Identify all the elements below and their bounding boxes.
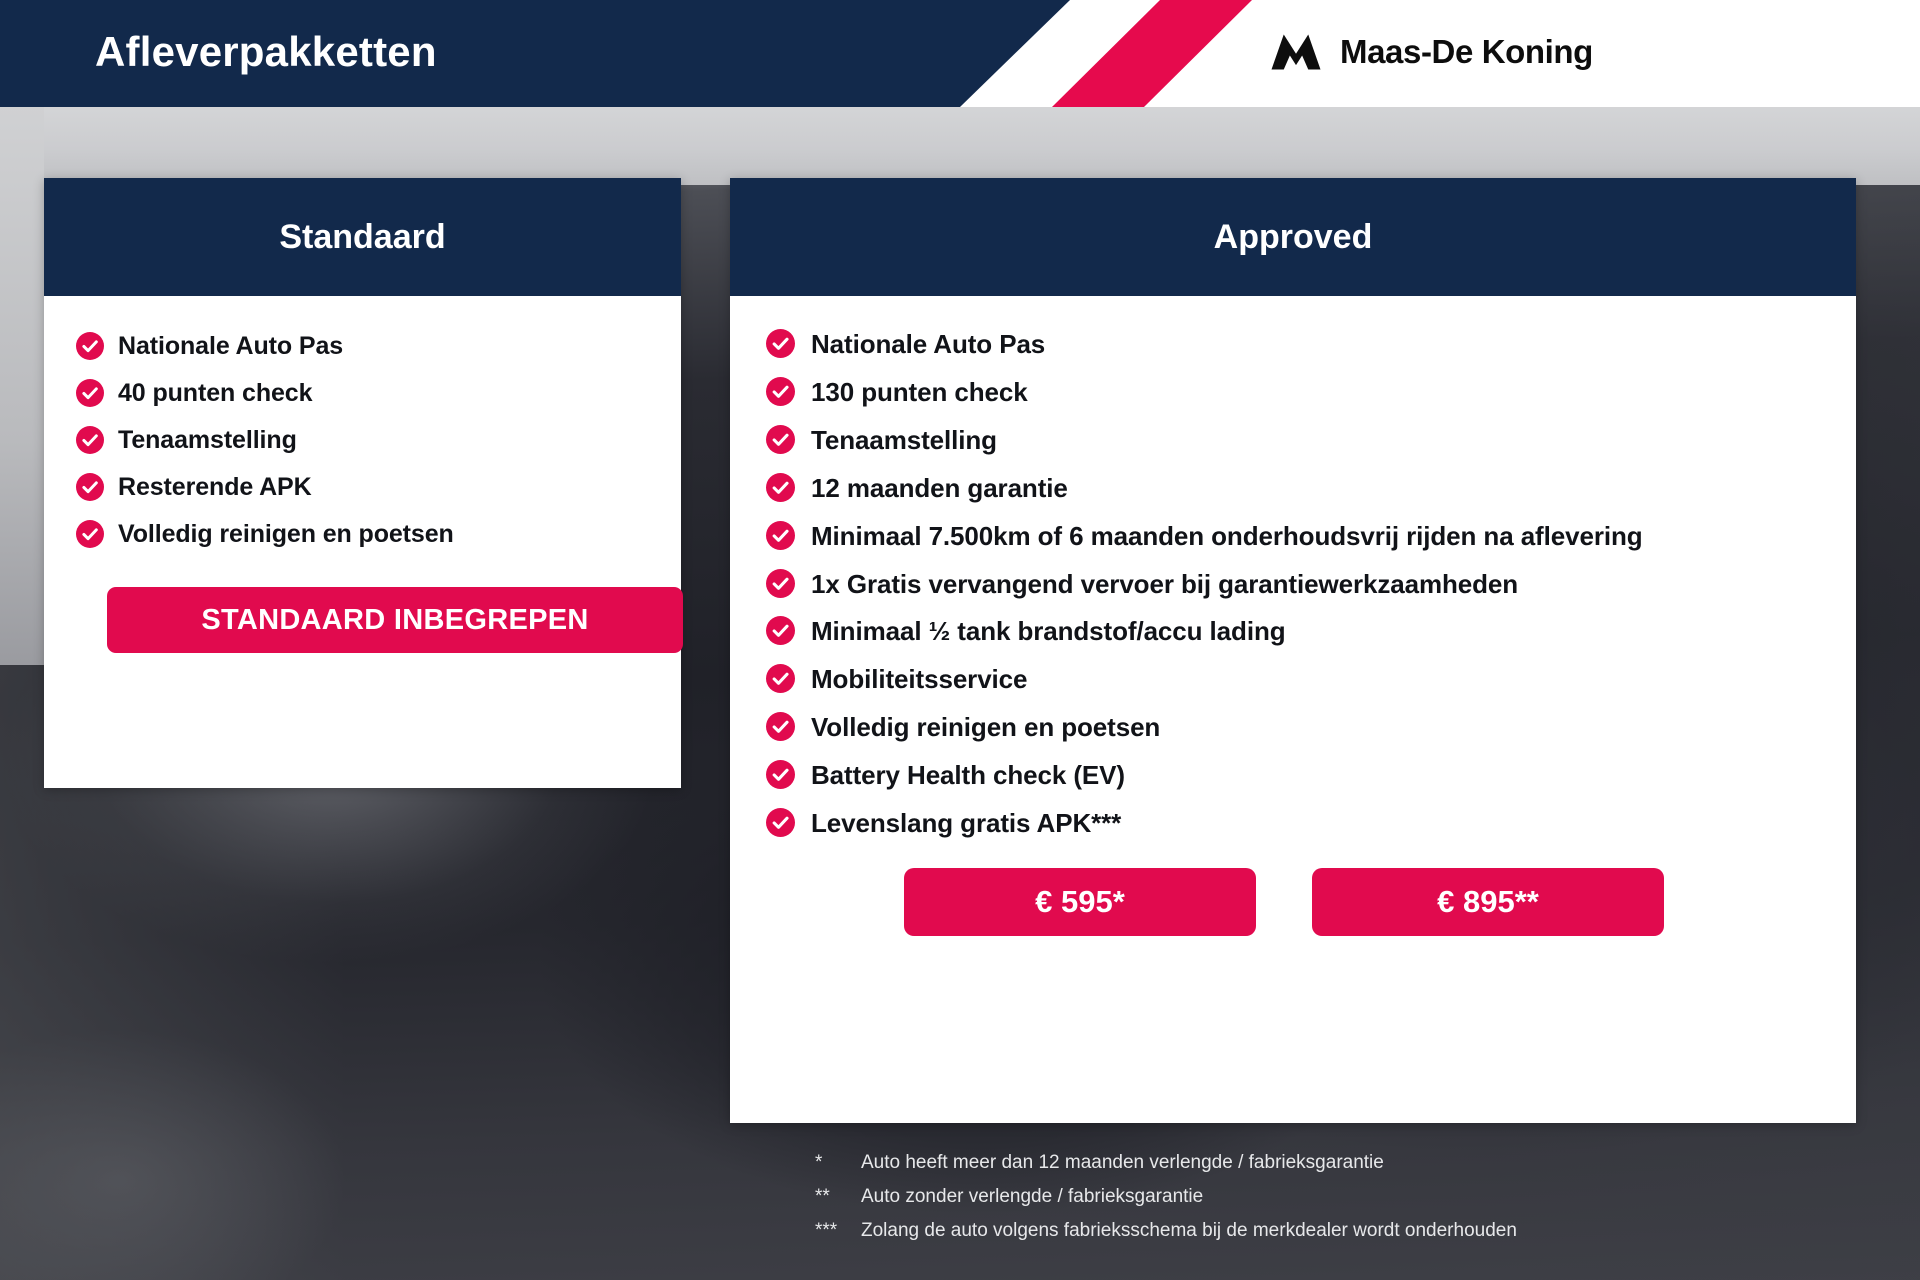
check-circle-icon: [76, 426, 104, 454]
maas-de-koning-m-mark-icon: [1268, 24, 1324, 80]
list-item: Nationale Auto Pas: [766, 326, 1820, 363]
list-item: 12 maanden garantie: [766, 470, 1820, 507]
check-circle-icon: [76, 332, 104, 360]
footnote-marker: ***: [815, 1218, 861, 1244]
feature-label: 12 maanden garantie: [811, 470, 1068, 507]
feature-list-approved: Nationale Auto Pas 130 punten check Tena…: [766, 326, 1820, 842]
background-top-band: [0, 105, 1920, 185]
feature-label: 1x Gratis vervangend vervoer bij garanti…: [811, 566, 1518, 603]
price-button-row: € 595* € 895**: [766, 868, 1820, 936]
feature-label: 40 punten check: [118, 377, 312, 410]
list-item: Resterende APK: [76, 471, 649, 504]
card-title-standaard: Standaard: [44, 178, 681, 296]
check-circle-icon: [766, 521, 795, 550]
list-item: Levenslang gratis APK***: [766, 805, 1820, 842]
background-left-strip: [0, 105, 44, 665]
card-title-approved: Approved: [730, 178, 1856, 296]
feature-label: Minimaal 7.500km of 6 maanden onderhouds…: [811, 518, 1643, 555]
feature-label: Mobiliteitsservice: [811, 661, 1027, 698]
feature-label: Nationale Auto Pas: [811, 326, 1045, 363]
check-circle-icon: [766, 377, 795, 406]
list-item: Battery Health check (EV): [766, 757, 1820, 794]
list-item: Volledig reinigen en poetsen: [766, 709, 1820, 746]
card-body-approved: Nationale Auto Pas 130 punten check Tena…: [730, 296, 1856, 936]
list-item: 1x Gratis vervangend vervoer bij garanti…: [766, 566, 1820, 603]
list-item: 40 punten check: [76, 377, 649, 410]
footnote-marker: **: [815, 1184, 861, 1210]
package-card-standaard: Standaard Nationale Auto Pas 40 punten c…: [44, 178, 681, 788]
feature-label: Nationale Auto Pas: [118, 330, 343, 363]
feature-label: Battery Health check (EV): [811, 757, 1125, 794]
feature-label: Tenaamstelling: [118, 424, 297, 457]
list-item: Minimaal ½ tank brandstof/accu lading: [766, 613, 1820, 650]
list-item: Nationale Auto Pas: [76, 330, 649, 363]
feature-label: Minimaal ½ tank brandstof/accu lading: [811, 613, 1286, 650]
list-item: Volledig reinigen en poetsen: [76, 518, 649, 551]
feature-label: 130 punten check: [811, 374, 1028, 411]
check-circle-icon: [766, 664, 795, 693]
price-button-895[interactable]: € 895**: [1312, 868, 1664, 936]
footnote-text: Auto zonder verlengde / fabrieksgarantie: [861, 1184, 1815, 1210]
footnote-marker: *: [815, 1150, 861, 1176]
footnote-row: ** Auto zonder verlengde / fabrieksgaran…: [815, 1184, 1815, 1210]
check-circle-icon: [766, 569, 795, 598]
check-circle-icon: [76, 473, 104, 501]
check-circle-icon: [766, 712, 795, 741]
footnote-text: Auto heeft meer dan 12 maanden verlengde…: [861, 1150, 1815, 1176]
check-circle-icon: [766, 760, 795, 789]
footnotes: * Auto heeft meer dan 12 maanden verleng…: [815, 1150, 1815, 1251]
footnote-text: Zolang de auto volgens fabrieksschema bi…: [861, 1218, 1815, 1244]
brand-name: Maas-De Koning: [1340, 33, 1593, 71]
page-title: Afleverpakketten: [95, 28, 437, 76]
check-circle-icon: [766, 473, 795, 502]
footnote-row: * Auto heeft meer dan 12 maanden verleng…: [815, 1150, 1815, 1176]
feature-label: Volledig reinigen en poetsen: [811, 709, 1160, 746]
brand-logo: Maas-De Koning: [1268, 24, 1593, 80]
price-button-595[interactable]: € 595*: [904, 868, 1256, 936]
check-circle-icon: [766, 808, 795, 837]
list-item: Mobiliteitsservice: [766, 661, 1820, 698]
check-circle-icon: [766, 425, 795, 454]
page-header: Afleverpakketten Maas-De Koning: [0, 0, 1920, 107]
feature-label: Volledig reinigen en poetsen: [118, 518, 454, 551]
check-circle-icon: [76, 520, 104, 548]
feature-list-standaard: Nationale Auto Pas 40 punten check Tenaa…: [76, 330, 649, 551]
package-card-approved: Approved Nationale Auto Pas 130 punten c…: [730, 178, 1856, 1123]
check-circle-icon: [766, 329, 795, 358]
feature-label: Resterende APK: [118, 471, 312, 504]
list-item: 130 punten check: [766, 374, 1820, 411]
list-item: Tenaamstelling: [76, 424, 649, 457]
list-item: Tenaamstelling: [766, 422, 1820, 459]
footnote-row: *** Zolang de auto volgens fabrieksschem…: [815, 1218, 1815, 1244]
check-circle-icon: [766, 616, 795, 645]
afleverpakketten-page: Afleverpakketten Maas-De Koning Standaar…: [0, 0, 1920, 1280]
list-item: Minimaal 7.500km of 6 maanden onderhouds…: [766, 518, 1820, 555]
standaard-inbegrepen-button[interactable]: STANDAARD INBEGREPEN: [107, 587, 683, 653]
feature-label: Levenslang gratis APK***: [811, 805, 1121, 842]
check-circle-icon: [76, 379, 104, 407]
card-body-standaard: Nationale Auto Pas 40 punten check Tenaa…: [44, 296, 681, 653]
feature-label: Tenaamstelling: [811, 422, 997, 459]
